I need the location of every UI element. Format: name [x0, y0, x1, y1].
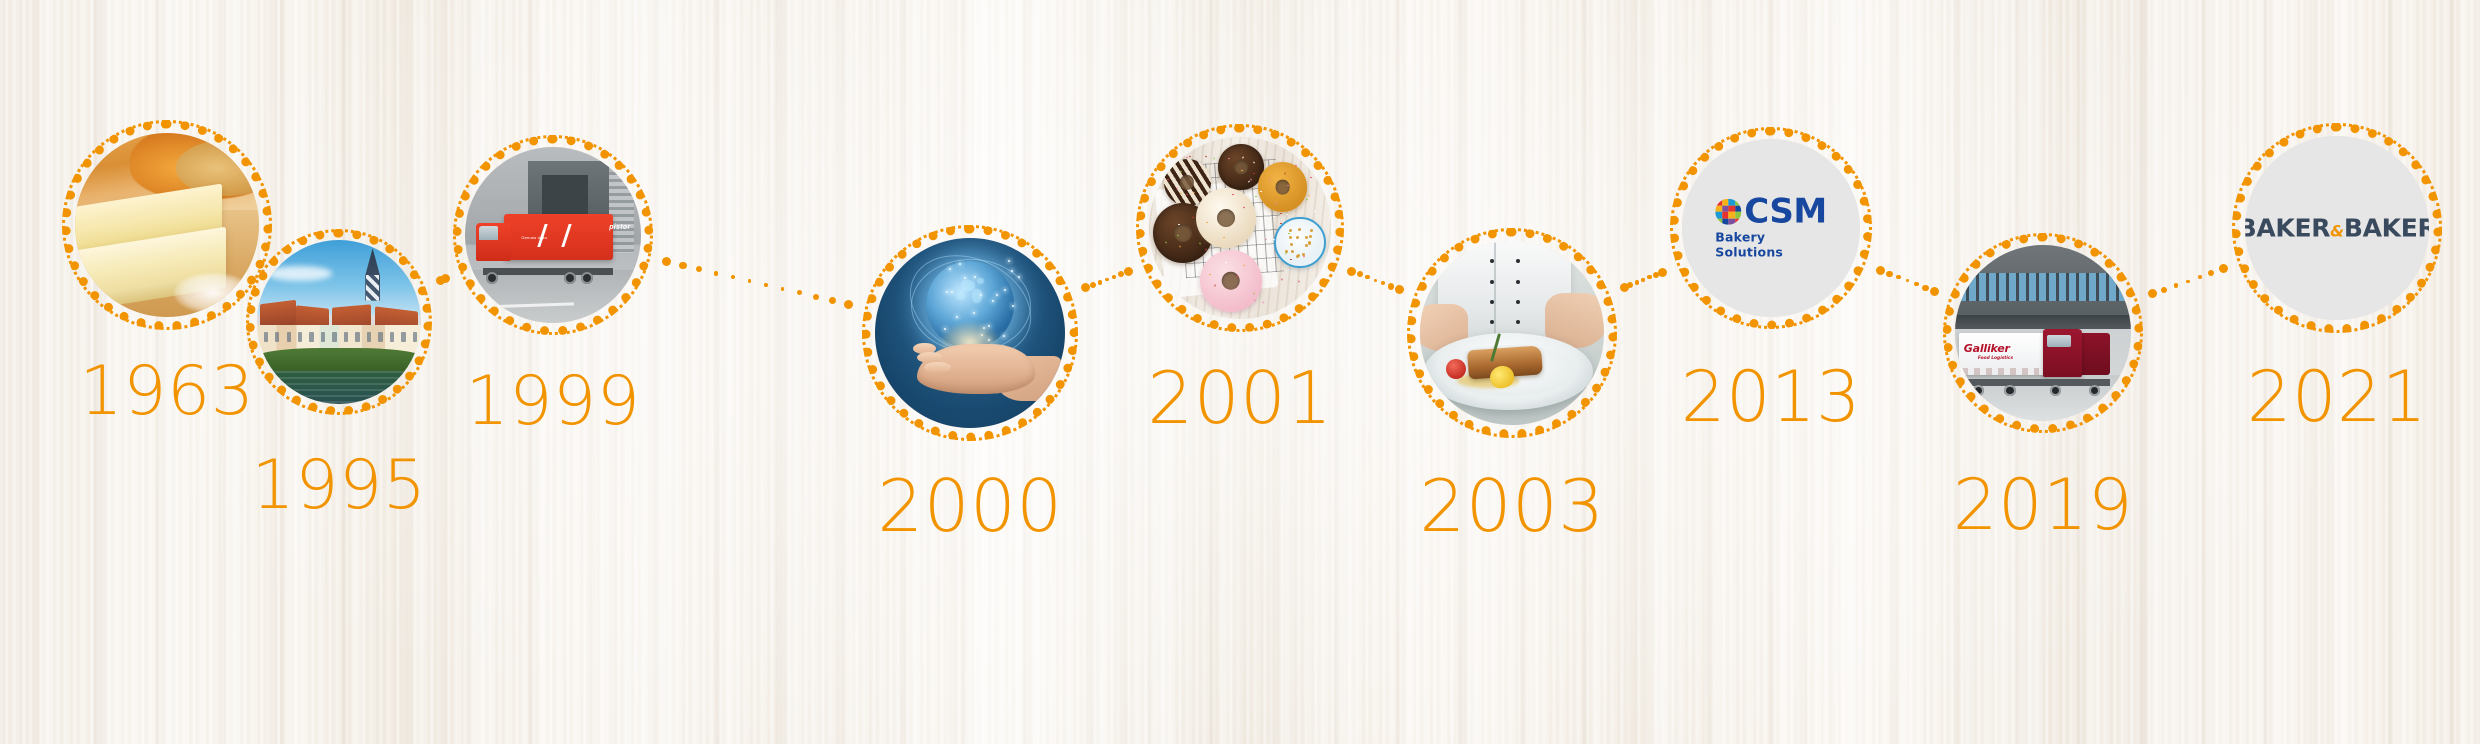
baker-and-baker-logo[interactable]: BAKER&BAKER: [2245, 136, 2429, 320]
baker-and-baker-wordmark: BAKER&BAKER: [2245, 214, 2429, 243]
csm-wordmark: CSM: [1744, 197, 1826, 228]
milestone-year-label: 2003: [1419, 470, 1604, 542]
milestone-year-label: 2000: [877, 470, 1062, 542]
milestone-year-label: 2013: [1681, 362, 1861, 432]
galliker-food-logistics-truck-photo[interactable]: GallikerFood Logistics: [1955, 245, 2131, 421]
csm-bakery-solutions-logo[interactable]: CSMBakery Solutions: [1682, 139, 1860, 317]
swiss-lakeside-town-photo[interactable]: [257, 240, 421, 404]
ampersand-icon: &: [2330, 222, 2344, 241]
timeline-canvas: 19631995pistorGenuss dazu199920002001200…: [0, 0, 2480, 744]
pistor-red-truck-photo[interactable]: pistorGenuss dazu: [465, 147, 641, 323]
butter-blocks-pastry-photo[interactable]: [75, 133, 259, 317]
milestone-year-label: 1963: [79, 358, 254, 426]
milestone-year-label: 2019: [1953, 470, 2133, 540]
csm-tagline: Bakery Solutions: [1715, 229, 1826, 259]
milestone-year-label: 1995: [251, 452, 426, 520]
milestone-year-label: 2001: [1147, 362, 1332, 434]
milestone-year-label: 2021: [2247, 362, 2427, 432]
mosaic-globe-icon: [1715, 199, 1741, 225]
chef-plating-dish-photo[interactable]: [1420, 241, 1604, 425]
csm-logo: CSMBakery Solutions: [1715, 197, 1826, 260]
assorted-donuts-photo[interactable]: [1149, 137, 1331, 319]
hand-holding-digital-globe-photo[interactable]: [875, 238, 1065, 428]
milestone-year-label: 1999: [465, 368, 640, 436]
